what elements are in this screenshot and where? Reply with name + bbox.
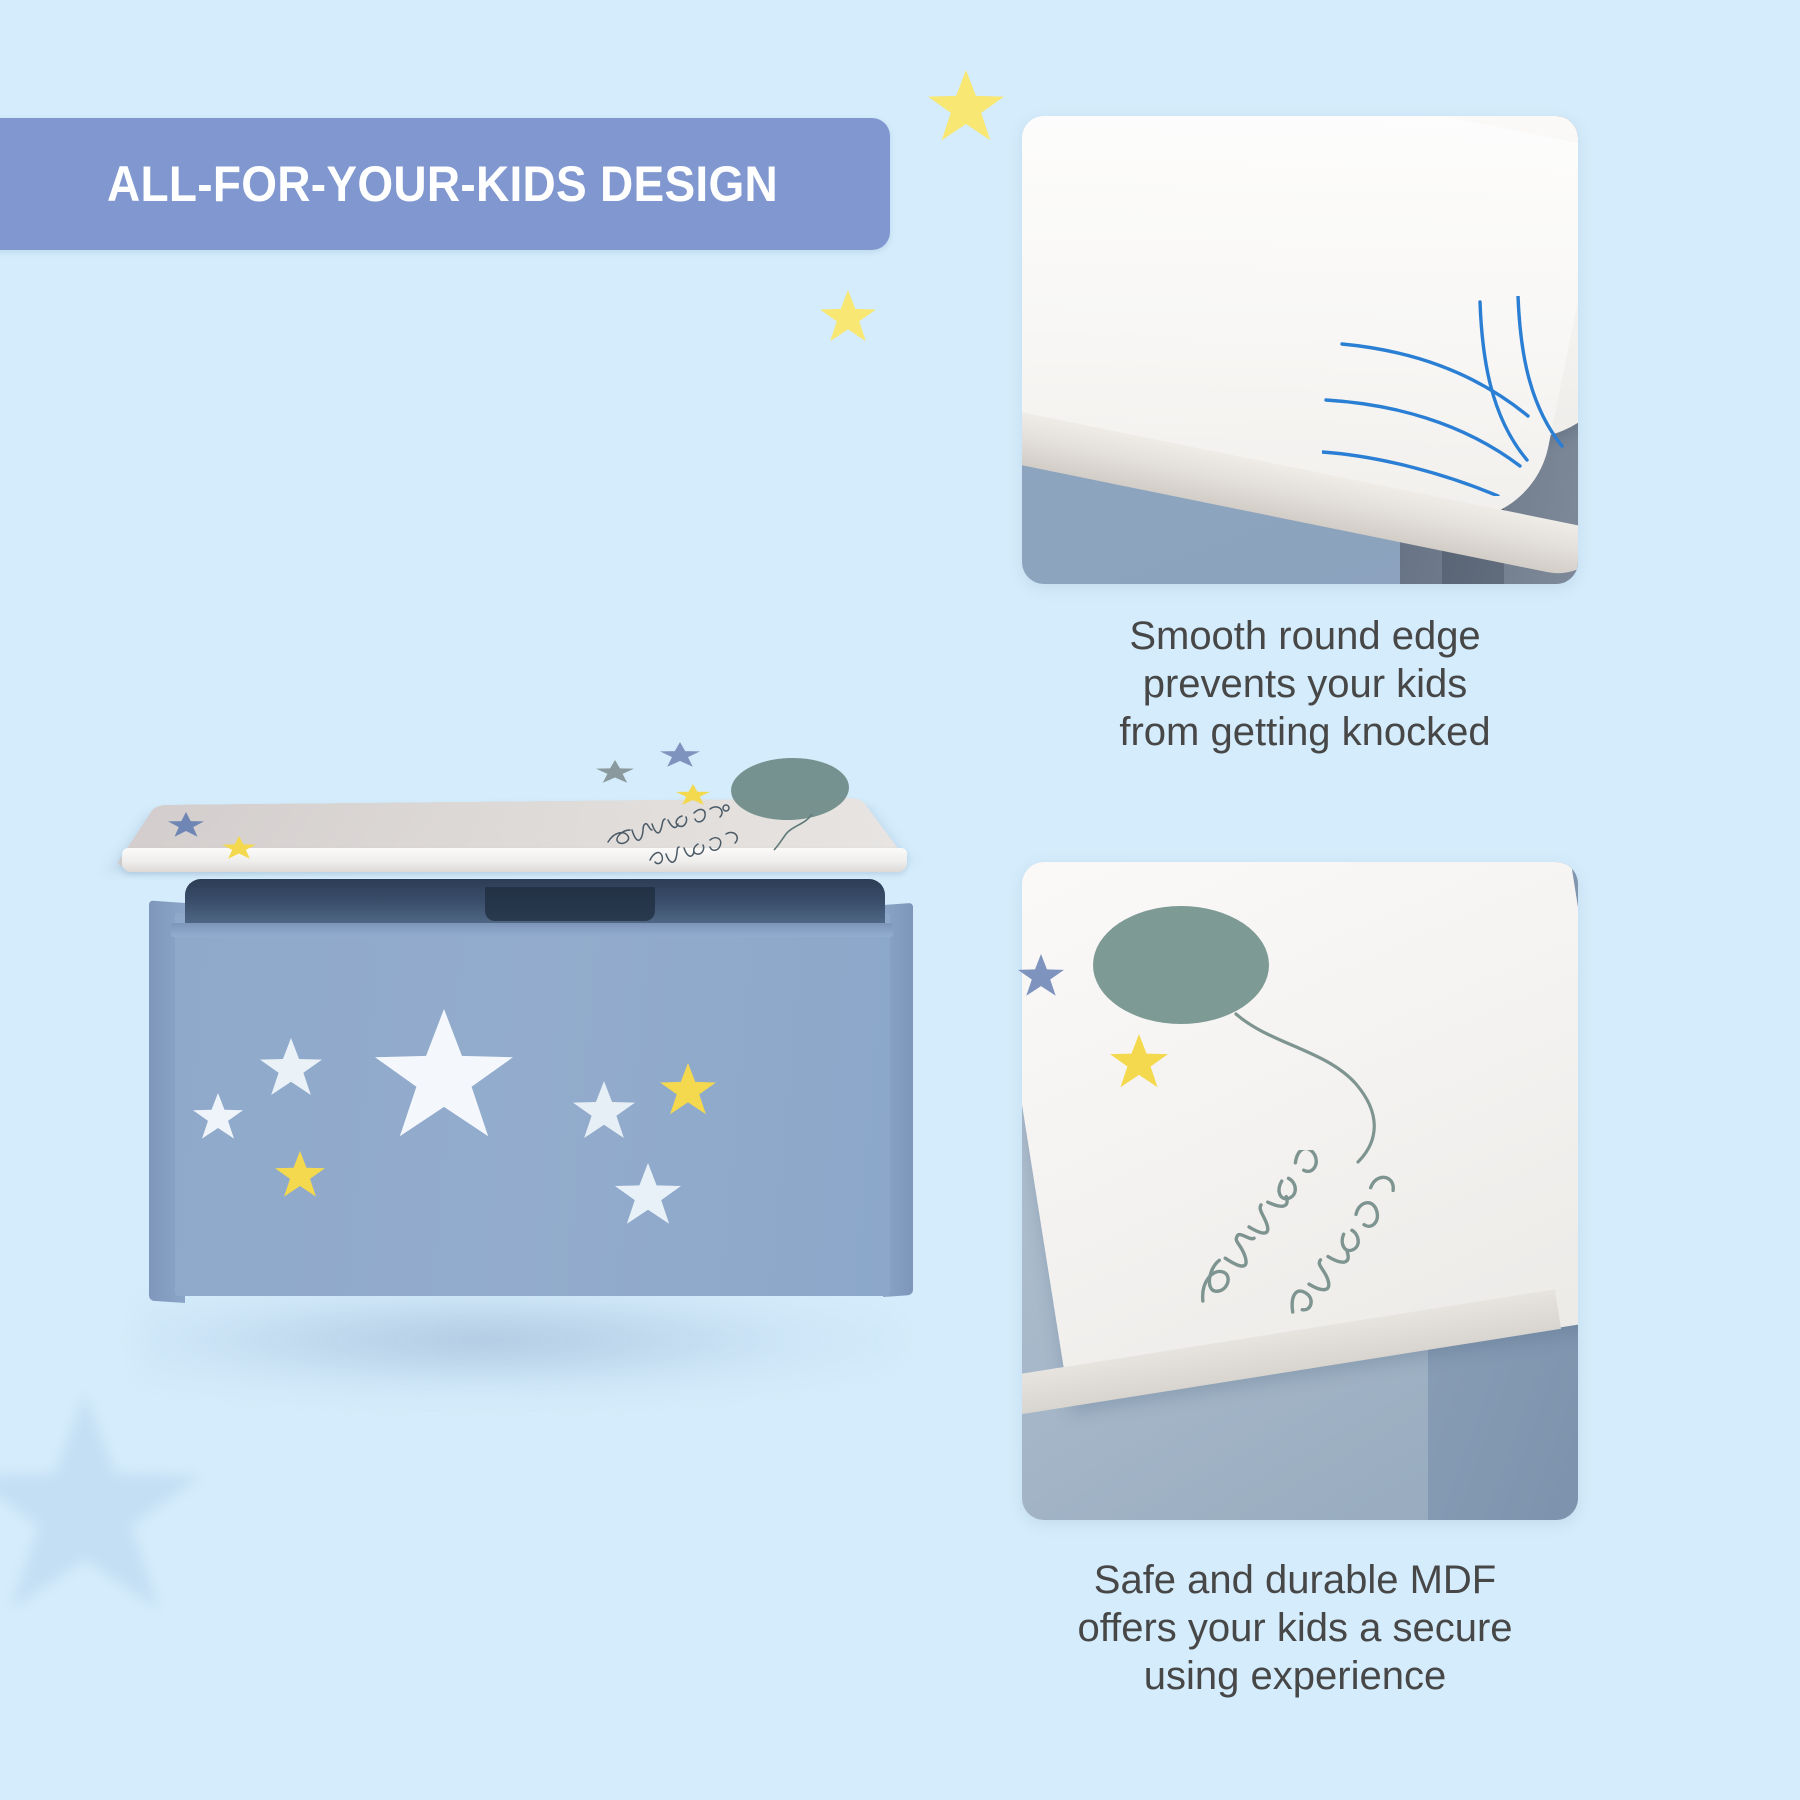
front-star-yellow-2 [660,1063,716,1117]
caption-line: offers your kids a secure [995,1604,1595,1652]
caption-corner-detail: Smooth round edge prevents your kids fro… [1005,612,1605,756]
lid-star-gray [596,760,634,784]
caption-line: prevents your kids [1005,660,1605,708]
toy-box-handle-notch [485,887,655,921]
lid-star-blue-small [168,812,204,838]
header-banner: ALL-FOR-YOUR-KIDS DESIGN [0,118,890,250]
caption-line: Smooth round edge [1005,612,1605,660]
caption-mdf-detail: Safe and durable MDF offers your kids a … [995,1556,1595,1700]
page-title: ALL-FOR-YOUR-KIDS DESIGN [107,155,778,213]
product-floor-shadow [140,1280,900,1400]
rounded-edge-grid-overlay-icon [1322,296,1578,496]
front-star-small-white-1 [193,1093,243,1141]
decorative-star-yellow-mid [820,290,876,344]
mdf-star-yellow [1110,1034,1168,1090]
caption-line: Safe and durable MDF [995,1556,1595,1604]
lid-star-blue [660,742,700,768]
marketing-image-canvas: ALL-FOR-YOUR-KIDS DESIGN [0,0,1800,1800]
toy-box-body [145,875,895,1295]
watermark-star-icon [0,1395,200,1620]
front-star-large-white [375,1009,513,1143]
front-star-white-2 [260,1038,322,1098]
lid-script-sweet-hugs [598,800,788,870]
toy-box-rim [171,923,893,937]
front-star-yellow-1 [275,1151,325,1199]
toy-box-front-panel [175,913,890,1296]
caption-line: using experience [995,1652,1595,1700]
lid-star-yellow-small [222,836,256,860]
mdf-star-blue [1018,954,1064,998]
mdf-script-sweet-hugs [1180,1150,1450,1320]
mdf-balloon-string-icon [1230,1010,1420,1170]
front-star-white-4 [615,1163,681,1227]
decorative-star-yellow-top [928,70,1004,144]
front-star-white-3 [573,1081,635,1141]
caption-line: from getting knocked [1005,708,1605,756]
detail-card-corner [1022,116,1578,584]
mdf-balloon-decal [1093,906,1269,1024]
